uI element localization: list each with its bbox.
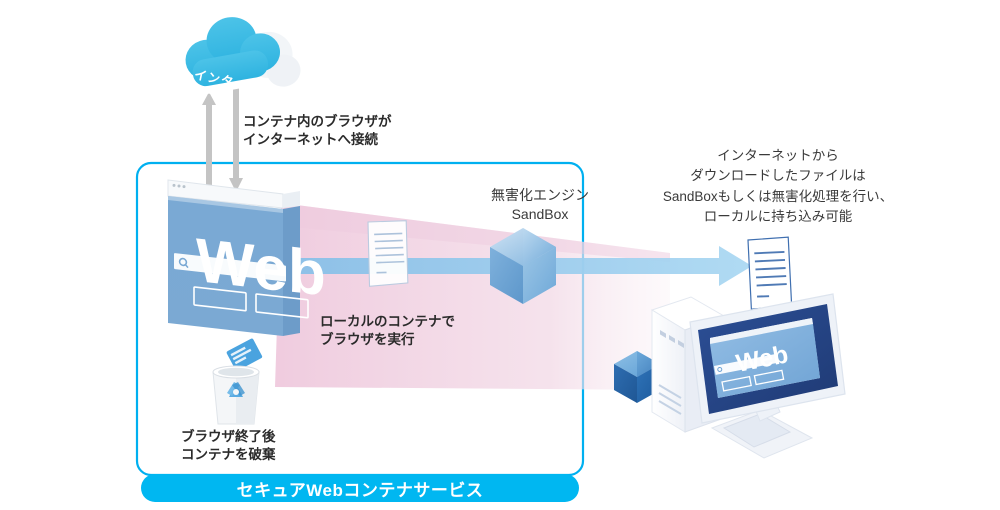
browser-dot (173, 184, 176, 187)
annotation-internet-link: コンテナ内のブラウザが インターネットへ接続 (243, 113, 392, 149)
document-icon-left (364, 218, 413, 289)
browser-dot (178, 185, 181, 188)
container-projection-beam (275, 203, 670, 390)
annotation-local-container: ローカルのコンテナで ブラウザを実行 (320, 313, 455, 349)
service-bar (141, 474, 579, 502)
diagram-graphics: インターネット Web (0, 0, 1000, 510)
diagram-canvas: インターネット Web (0, 0, 1000, 510)
document-icon-right (744, 235, 795, 311)
annotation-download-policy: インターネットから ダウンロードしたファイルは SandBoxもしくは無害化処理… (633, 146, 923, 227)
browser-dot (183, 185, 186, 188)
annotation-destroy-container: ブラウザ終了後 コンテナを破棄 (181, 428, 276, 464)
annotation-sandbox-engine: 無害化エンジン SandBox (470, 186, 610, 224)
desktop-monitor: Web (690, 294, 846, 458)
